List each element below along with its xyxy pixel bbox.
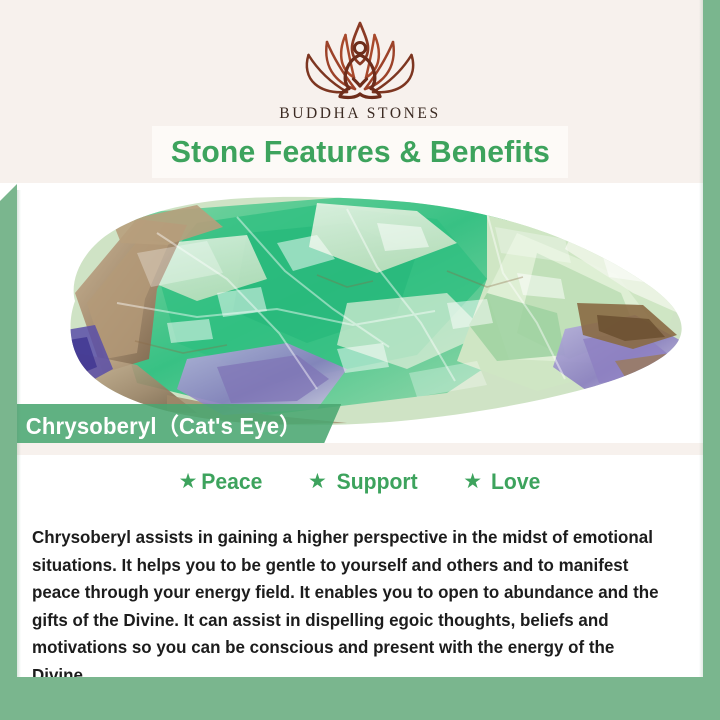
page-title-plaque: Stone Features & Benefits [152,126,568,178]
keyword-label: Peace [202,469,263,495]
star-icon: ★ [463,471,482,492]
stone-name-label: Chrysoberyl（Cat's Eye） [0,404,341,443]
keyword-peace: ★ Peace [179,469,264,495]
frame-border-right [703,0,720,720]
star-icon: ★ [308,471,327,492]
brand-name: BUDDHA STONES [0,105,720,123]
keyword-love: ★ Love [463,469,541,495]
star-icon: ★ [179,471,198,492]
keyword-support: ★ Support [308,469,419,495]
frame-left-shadow [17,190,21,677]
page-title: Stone Features & Benefits [170,134,549,170]
frame-right-shadow [699,0,703,677]
stone-benefits-infographic: BUDDHA STONES Stone Features & Benefits [0,0,720,720]
frame-border-left [0,183,17,677]
brand-logo: BUDDHA STONES [0,18,720,123]
keyword-list: ★ Peace ★ Support ★ Love [17,469,703,495]
stone-name-text: Chrysoberyl（Cat's Eye） [26,407,302,441]
keyword-label: Support [337,469,418,495]
stone-description: Chrysoberyl assists in gaining a higher … [32,524,674,689]
frame-border-bottom [0,677,720,720]
keyword-label: Love [491,469,540,495]
content-top-band [17,443,703,455]
lotus-meditation-figure-icon [285,18,435,102]
content-panel: ★ Peace ★ Support ★ Love Chrysoberyl ass… [17,443,703,677]
